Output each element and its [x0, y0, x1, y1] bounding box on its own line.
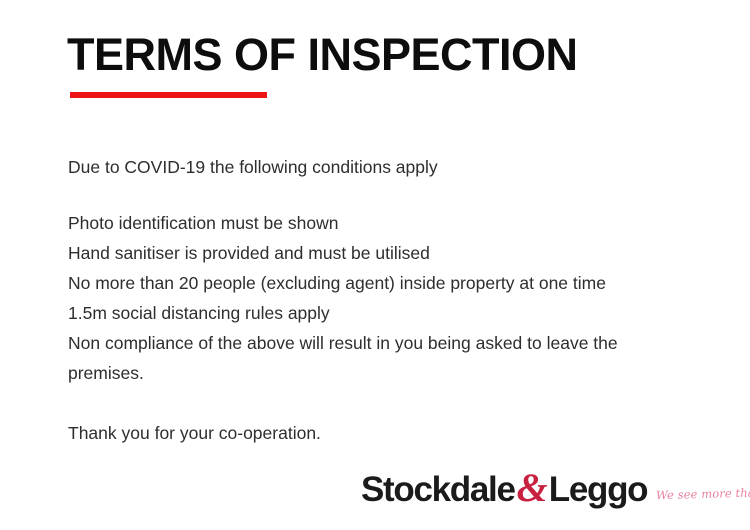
conditions-list: Photo identification must be shown Hand … — [68, 208, 708, 388]
list-item: Photo identification must be shown — [68, 208, 708, 238]
list-item: No more than 20 people (excluding agent)… — [68, 268, 708, 298]
logo-ampersand: & — [517, 470, 548, 505]
list-item: Non compliance of the above will result … — [68, 328, 693, 388]
document-body: Due to COVID-19 the following conditions… — [68, 155, 708, 445]
closing-paragraph: Thank you for your co-operation. — [68, 421, 708, 445]
document-page: TERMS OF INSPECTION Due to COVID-19 the … — [0, 0, 750, 530]
intro-paragraph: Due to COVID-19 the following conditions… — [68, 155, 708, 179]
title-underline-rule — [70, 92, 267, 98]
list-item: Hand sanitiser is provided and must be u… — [68, 238, 708, 268]
stockdale-leggo-logo: Stockdale & Leggo We see more than prope… — [361, 470, 750, 507]
list-item: 1.5m social distancing rules apply — [68, 298, 708, 328]
page-title: TERMS OF INSPECTION — [67, 29, 578, 81]
logo-word-leggo: Leggo — [549, 472, 647, 507]
logo-tagline: We see more than property — [656, 485, 750, 501]
logo-word-stockdale: Stockdale — [361, 472, 515, 507]
